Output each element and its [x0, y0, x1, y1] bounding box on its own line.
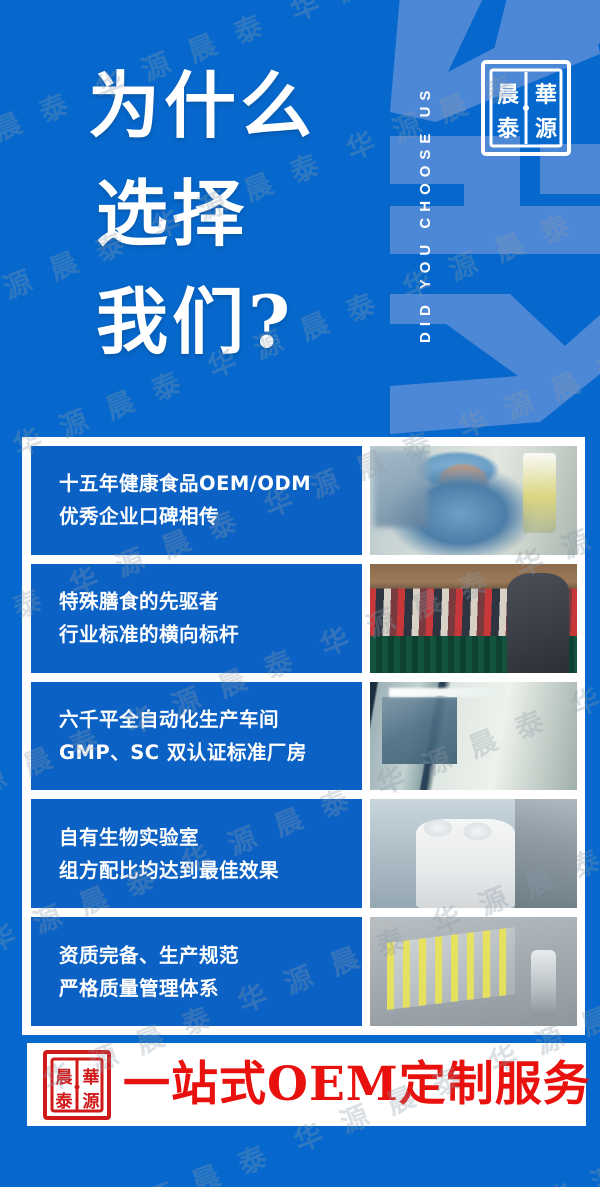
feature-line-2: 组方配比均达到最佳效果	[59, 854, 362, 887]
feature-row: 特殊膳食的先驱者 行业标准的横向标杆	[31, 564, 577, 673]
feature-row: 六千平全自动化生产车间 GMP、SC 双认证标准厂房	[31, 682, 577, 791]
title-line-1: 为什么	[88, 52, 316, 160]
feature-row: 资质完备、生产规范 严格质量管理体系	[31, 917, 577, 1026]
page-title: 为什么 选择 我们?	[88, 52, 316, 376]
feature-text-card: 自有生物实验室 组方配比均达到最佳效果	[31, 799, 362, 908]
feature-text-card: 十五年健康食品OEM/ODM 优秀企业口碑相传	[31, 446, 362, 555]
feature-line-2: GMP、SC 双认证标准厂房	[59, 736, 362, 769]
photo-conference-audience	[370, 564, 577, 673]
svg-text:源: 源	[535, 116, 557, 142]
feature-line-1: 十五年健康食品OEM/ODM	[59, 467, 362, 500]
photo-packaging-line	[370, 799, 577, 908]
photo-blister-machine	[370, 917, 577, 1026]
feature-line-1: 六千平全自动化生产车间	[59, 703, 362, 736]
feature-line-1: 自有生物实验室	[59, 821, 362, 854]
feature-line-1: 特殊膳食的先驱者	[59, 585, 362, 618]
title-line-3: 我们?	[88, 268, 316, 376]
svg-text:晨: 晨	[56, 1068, 74, 1088]
watermark-text: 华 源 晨 泰	[344, 1184, 595, 1187]
feature-line-2: 行业标准的横向标杆	[59, 618, 362, 651]
brand-seal-icon: 晨 泰 華 源	[478, 56, 574, 160]
feature-row: 自有生物实验室 组方配比均达到最佳效果	[31, 799, 577, 908]
title-line-2: 选择	[88, 160, 316, 268]
cta-text: 一站式OEM定制服务	[123, 1061, 591, 1108]
svg-text:華: 華	[535, 82, 557, 108]
photo-cleanroom-corridor	[370, 682, 577, 791]
poster-canvas: 为什么 选择 我们? DID YOU CHOOSE US 晨 泰 華 源	[0, 0, 600, 1187]
svg-text:華: 華	[83, 1068, 100, 1088]
feature-text-card: 六千平全自动化生产车间 GMP、SC 双认证标准厂房	[31, 682, 362, 791]
vertical-subtitle: DID YOU CHOOSE US	[406, 24, 434, 404]
feature-text-card: 特殊膳食的先驱者 行业标准的横向标杆	[31, 564, 362, 673]
svg-text:泰: 泰	[496, 116, 520, 142]
brand-seal-red-icon: 晨 泰 華 源	[41, 1047, 113, 1123]
svg-text:源: 源	[83, 1091, 100, 1112]
svg-text:晨: 晨	[497, 82, 520, 108]
photo-lab-technician	[370, 446, 577, 555]
feature-line-2: 严格质量管理体系	[59, 972, 362, 1005]
feature-row: 十五年健康食品OEM/ODM 优秀企业口碑相传	[31, 446, 577, 555]
watermark-text: 华 源 晨 泰	[93, 1123, 344, 1187]
features-panel: 十五年健康食品OEM/ODM 优秀企业口碑相传 特殊膳食的先驱者 行业标准的横向…	[22, 437, 585, 1035]
feature-line-1: 资质完备、生产规范	[59, 939, 362, 972]
svg-text:泰: 泰	[56, 1091, 74, 1112]
feature-text-card: 资质完备、生产规范 严格质量管理体系	[31, 917, 362, 1026]
feature-line-2: 优秀企业口碑相传	[59, 500, 362, 533]
cta-banner: 晨 泰 華 源 一站式OEM定制服务	[27, 1043, 586, 1126]
